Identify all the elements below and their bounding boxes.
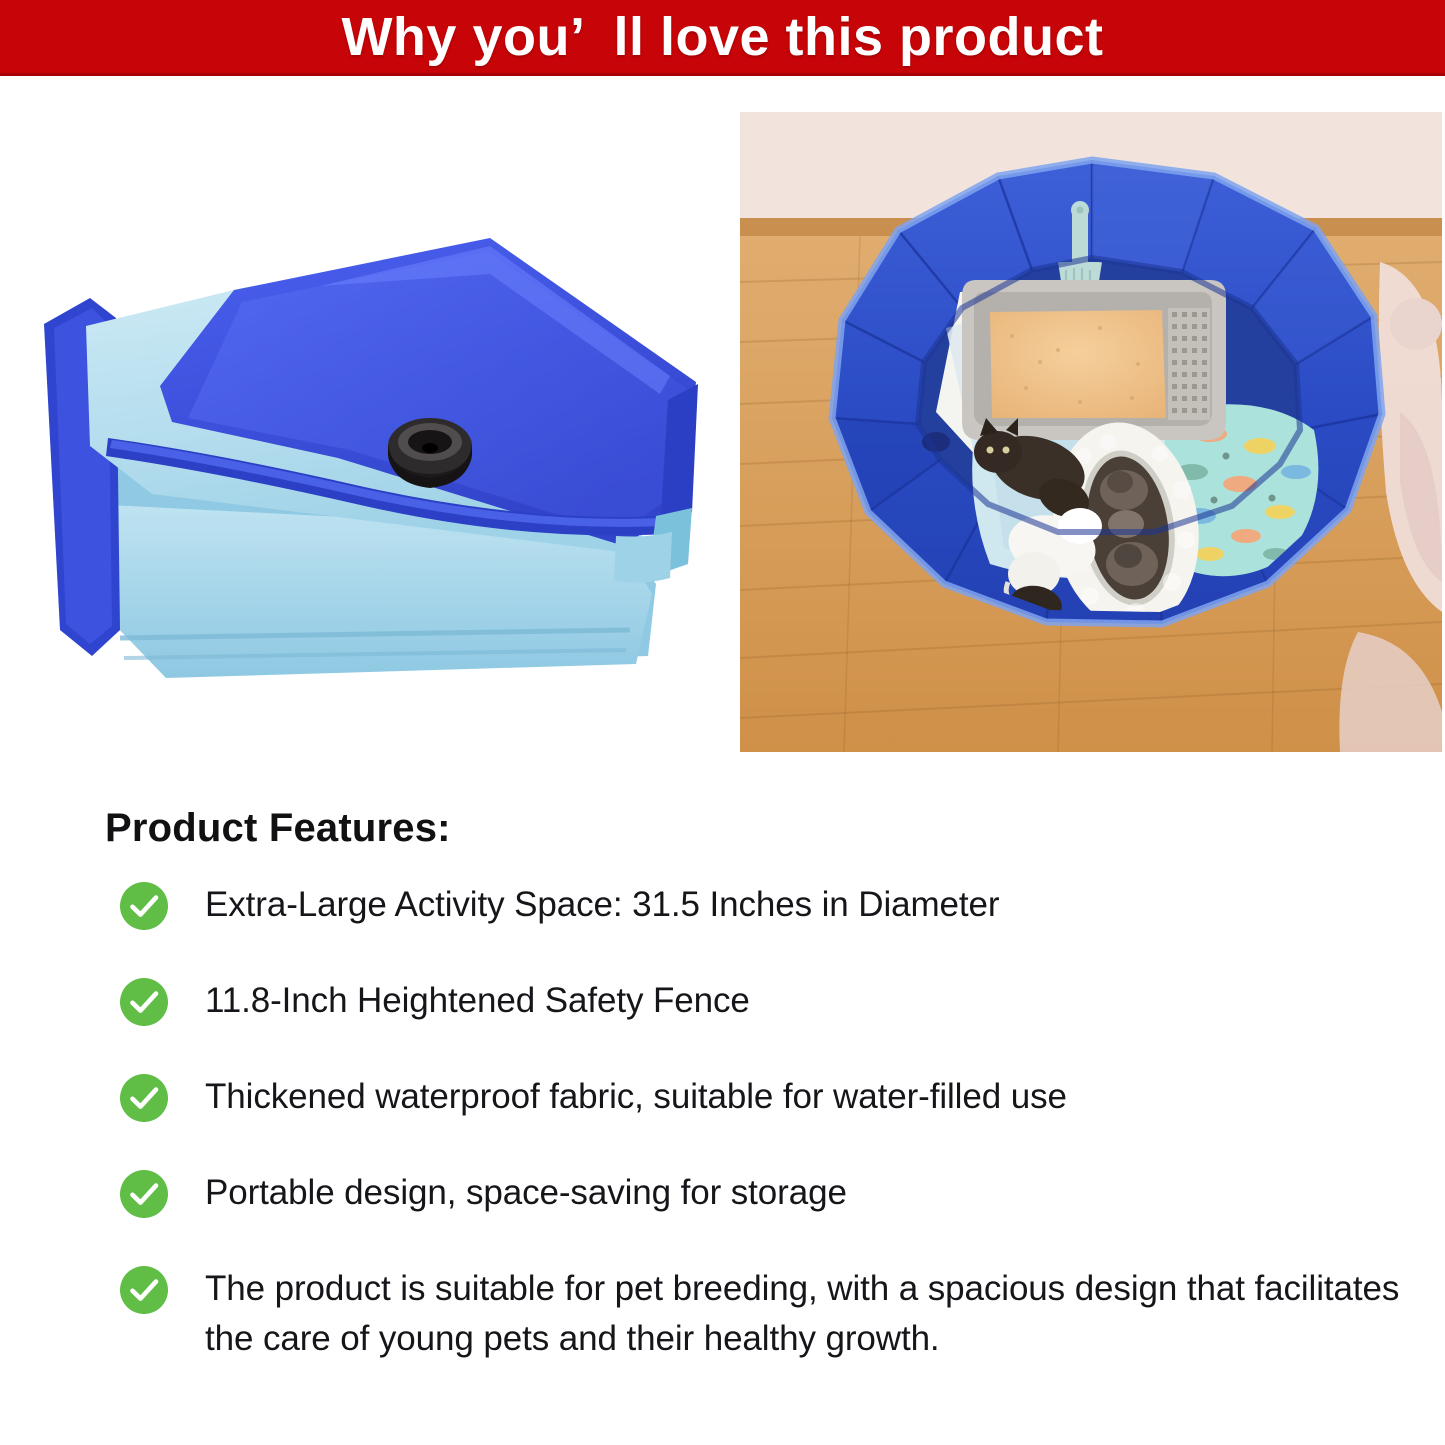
feature-text: Thickened waterproof fabric, suitable fo… <box>205 1072 1067 1122</box>
feature-text: Extra-Large Activity Space: 31.5 Inches … <box>205 880 999 930</box>
product-infographic-page: Why you’ ll love this product <box>0 0 1445 1445</box>
feature-text: Portable design, space-saving for storag… <box>205 1168 847 1218</box>
product-features-heading: Product Features: <box>105 806 451 851</box>
feature-text: 11.8-Inch Heightened Safety Fence <box>205 976 750 1026</box>
folded-pet-pool-product-photo <box>20 186 720 746</box>
green-check-circle-icon <box>120 978 168 1026</box>
feature-item: Portable design, space-saving for storag… <box>0 1168 1445 1264</box>
green-check-circle-icon <box>120 1170 168 1218</box>
header-banner: Why you’ ll love this product <box>0 0 1445 76</box>
feature-item: 11.8-Inch Heightened Safety Fence <box>0 976 1445 1072</box>
green-check-circle-icon <box>120 1074 168 1122</box>
feature-text: The product is suitable for pet breeding… <box>205 1264 1405 1363</box>
feature-list: Extra-Large Activity Space: 31.5 Inches … <box>0 880 1445 1414</box>
feature-item: The product is suitable for pet breeding… <box>0 1264 1445 1414</box>
hero-image-row <box>0 76 1445 776</box>
green-check-circle-icon <box>120 882 168 930</box>
pet-playpen-in-use-photo <box>740 112 1442 752</box>
feature-item: Thickened waterproof fabric, suitable fo… <box>0 1072 1445 1168</box>
banner-title: Why you’ ll love this product <box>341 10 1103 64</box>
feature-item: Extra-Large Activity Space: 31.5 Inches … <box>0 880 1445 976</box>
green-check-circle-icon <box>120 1266 168 1314</box>
